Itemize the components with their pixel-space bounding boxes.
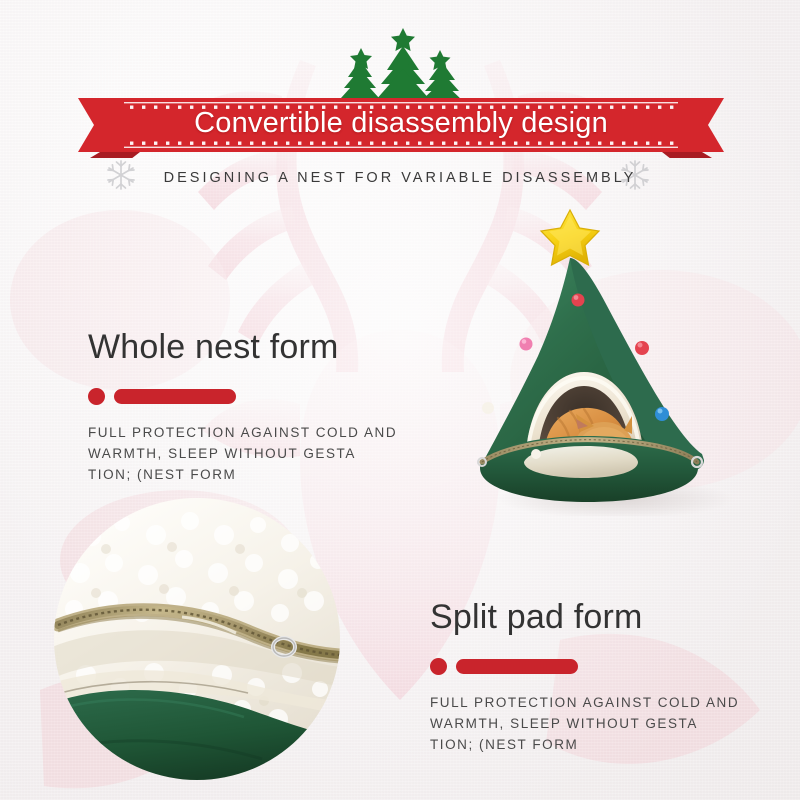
section-split-pad: Split pad form FULL PROTECTION AGAINST C… (430, 598, 739, 755)
accent-divider (430, 658, 739, 675)
accent-dot (430, 658, 447, 675)
section-heading: Split pad form (430, 598, 739, 637)
accent-divider (88, 388, 397, 405)
section-body: FULL PROTECTION AGAINST COLD AND WARMTH,… (430, 692, 739, 755)
section-body: FULL PROTECTION AGAINST COLD AND WARMTH,… (88, 422, 397, 485)
accent-bar (456, 659, 578, 674)
section-whole-nest: Whole nest form FULL PROTECTION AGAINST … (88, 328, 397, 485)
christmas-tree-icon-cluster (318, 26, 488, 106)
christmas-tree-pet-bed-photo (466, 196, 762, 516)
section-heading: Whole nest form (88, 328, 397, 367)
banner-ribbon: Convertible disassembly design (78, 96, 724, 158)
header-subtitle: DESIGNING A NEST FOR VARIABLE DISASSEMBL… (0, 170, 800, 186)
accent-dot (88, 388, 105, 405)
product-marketing-page: Convertible disassembly design (0, 0, 800, 800)
star-topper (541, 210, 599, 265)
accent-bar (114, 389, 236, 404)
zipper-detail-photo (52, 497, 342, 782)
banner-title: Convertible disassembly design (78, 96, 724, 152)
